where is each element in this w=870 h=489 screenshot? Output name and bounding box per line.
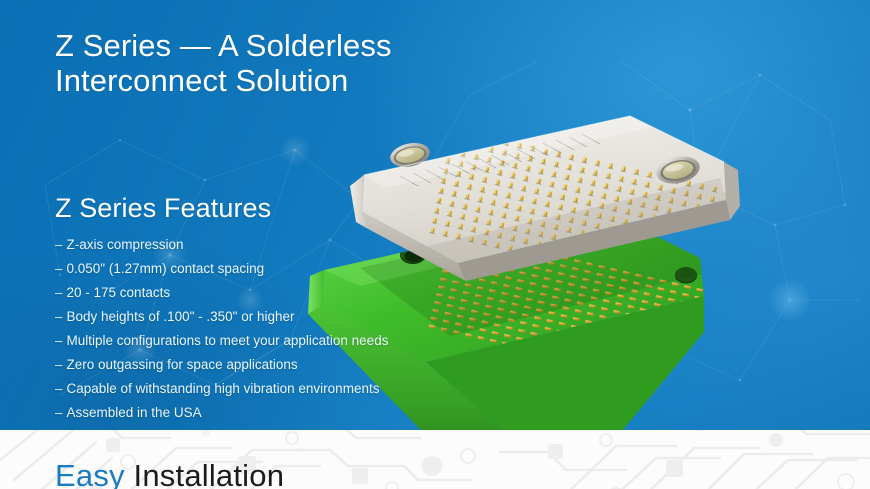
page-title-line-1: Z Series — A Solderless (55, 28, 392, 63)
list-item-label: Z-axis compression (67, 237, 184, 252)
list-item: –Zero outgassing for space applications (55, 353, 525, 377)
list-item: –Capable of withstanding high vibration … (55, 377, 525, 401)
bullet-marker: – (55, 357, 63, 372)
list-item: –20 - 175 contacts (55, 281, 525, 305)
list-item-label: 20 - 175 contacts (67, 285, 171, 300)
bullet-marker: – (55, 261, 63, 276)
list-item: –Z-axis compression (55, 233, 525, 257)
list-item-label: Zero outgassing for space applications (67, 357, 298, 372)
bottom-band-title-accent: Easy (55, 458, 125, 489)
list-item-label: Multiple configurations to meet your app… (67, 333, 389, 348)
bullet-marker: – (55, 381, 63, 396)
page-title-line-2: Interconnect Solution (55, 63, 348, 98)
bottom-band: Easy Installation (0, 430, 870, 489)
bullet-marker: – (55, 237, 63, 252)
features-list: –Z-axis compression –0.050" (1.27mm) con… (55, 233, 525, 425)
bottom-band-title: Easy Installation (55, 458, 284, 489)
list-item: –0.050" (1.27mm) contact spacing (55, 257, 525, 281)
list-item-label: Assembled in the USA (67, 405, 202, 420)
features-heading: Z Series Features (55, 193, 271, 224)
page-title: Z Series — A Solderless Interconnect Sol… (55, 28, 535, 98)
bullet-marker: – (55, 285, 63, 300)
bullet-marker: – (55, 405, 63, 420)
slide-canvas: Z Series — A Solderless Interconnect Sol… (0, 0, 870, 489)
list-item: –Multiple configurations to meet your ap… (55, 329, 525, 353)
bottom-band-title-main: Installation (134, 458, 285, 489)
bullet-marker: – (55, 333, 63, 348)
list-item-label: Capable of withstanding high vibration e… (67, 381, 380, 396)
list-item: –Assembled in the USA (55, 401, 525, 425)
list-item: –Body heights of .100" - .350" or higher (55, 305, 525, 329)
bullet-marker: – (55, 309, 63, 324)
list-item-label: Body heights of .100" - .350" or higher (67, 309, 295, 324)
list-item-label: 0.050" (1.27mm) contact spacing (67, 261, 265, 276)
